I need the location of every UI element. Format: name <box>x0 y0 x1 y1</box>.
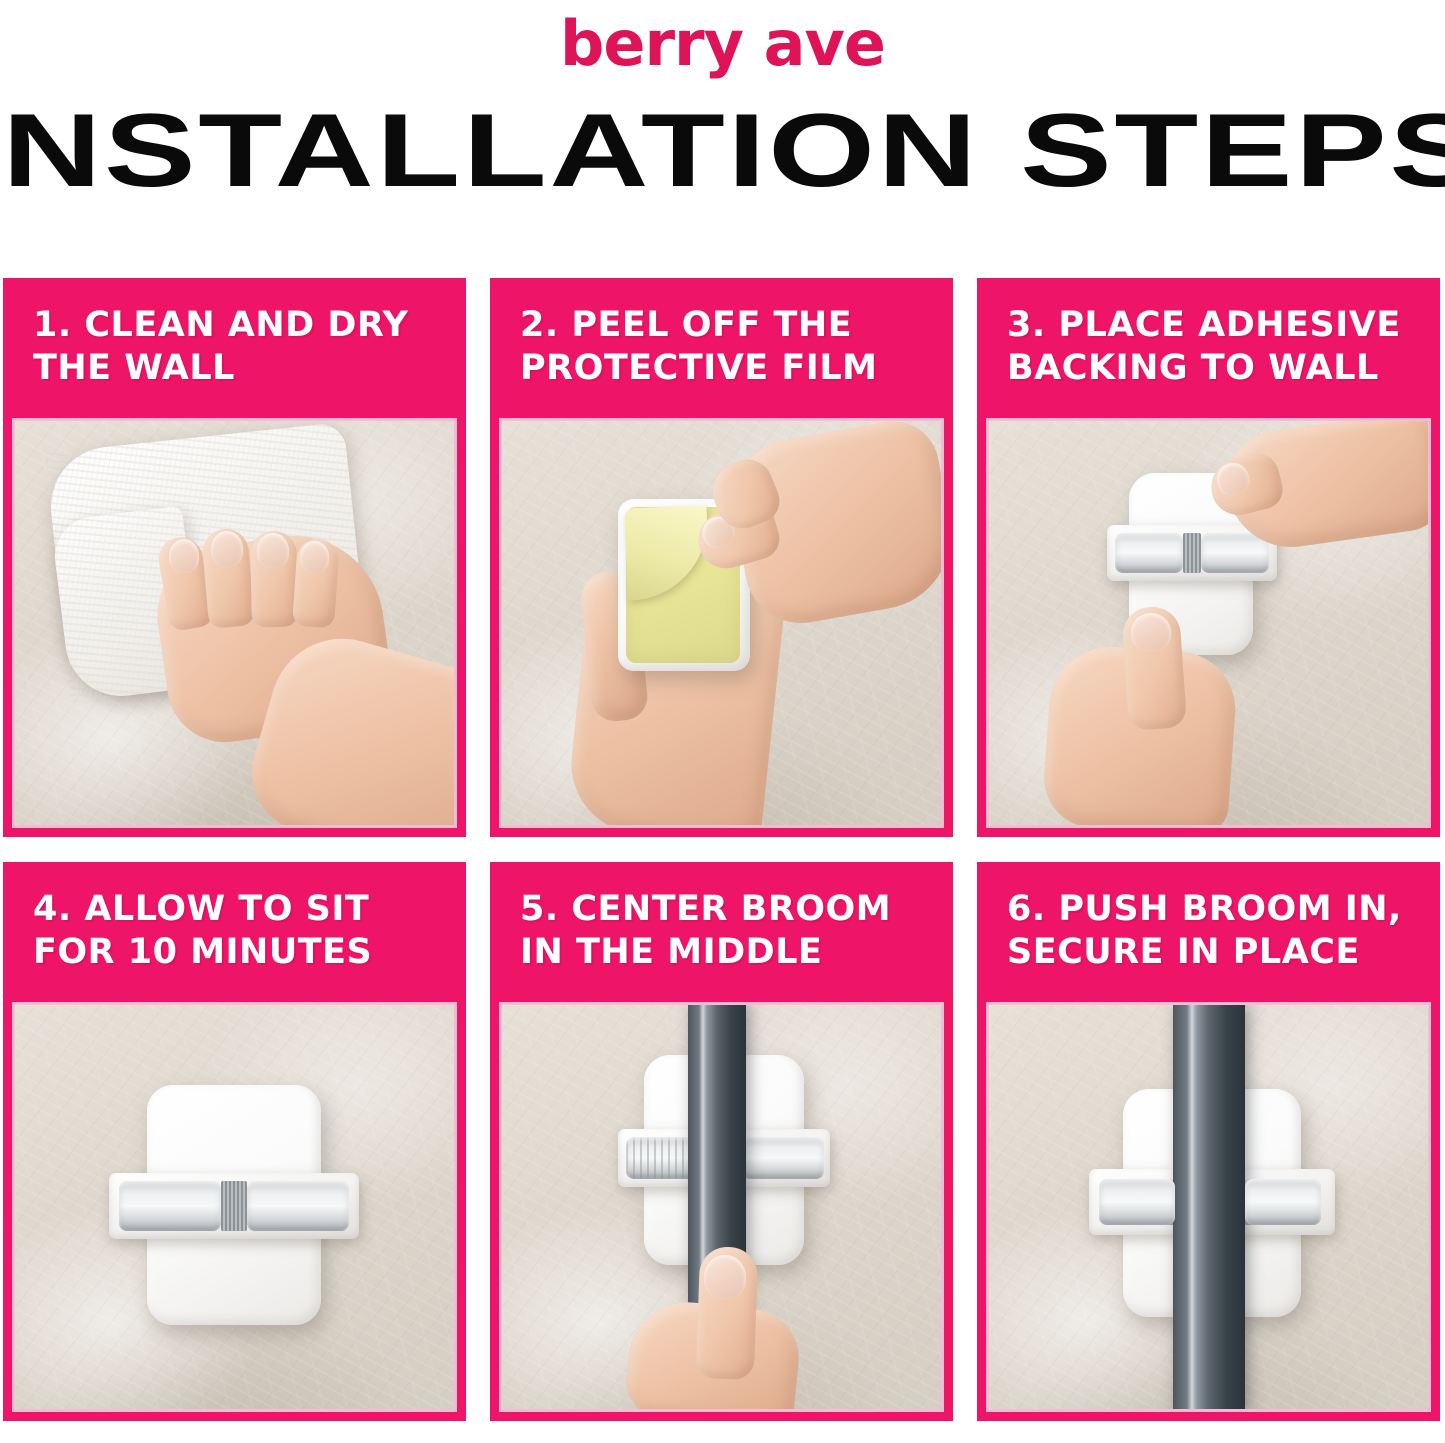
steps-grid: 1. CLEAN AND DRY THE WALL <box>3 278 1442 1421</box>
step-header-6: 6. PUSH BROOM IN, SECURE IN PLACE <box>977 862 1440 1002</box>
step-header-5: 5. CENTER BROOM IN THE MIDDLE <box>490 862 953 1002</box>
step-photo-3 <box>986 418 1431 828</box>
step-header-3: 3. PLACE ADHESIVE BACKING TO WALL <box>977 278 1440 418</box>
installation-steps-page: berry ave INSTALLATION STEPS 1. CLEAN AN… <box>0 0 1445 1443</box>
step-title-1: 1. CLEAN AND DRY THE WALL <box>33 304 440 389</box>
step-header-2: 2. PEEL OFF THE PROTECTIVE FILM <box>490 278 953 418</box>
roller-gap <box>221 1181 247 1231</box>
step-card-6: 6. PUSH BROOM IN, SECURE IN PLACE <box>977 862 1440 1421</box>
nail-middle <box>211 531 243 567</box>
step-photo-4 <box>12 1002 457 1412</box>
step-title-4: 4. ALLOW TO SIT FOR 10 MINUTES <box>33 888 440 973</box>
roller-left-grip <box>1099 1179 1175 1225</box>
page-title-text: INSTALLATION STEPS <box>0 99 1445 203</box>
nail-pinky <box>300 541 329 573</box>
step-photo-2 <box>499 418 944 828</box>
nail-index <box>169 539 199 573</box>
step-card-2: 2. PEEL OFF THE PROTECTIVE FILM <box>490 278 953 837</box>
step-title-5: 5. CENTER BROOM IN THE MIDDLE <box>520 888 927 973</box>
broom-handle-highlight <box>1187 1005 1197 1412</box>
step-card-3: 3. PLACE ADHESIVE BACKING TO WALL <box>977 278 1440 837</box>
nail-ring <box>257 533 289 568</box>
step-card-5: 5. CENTER BROOM IN THE MIDDLE <box>490 862 953 1421</box>
roller-right <box>247 1181 349 1231</box>
brand-logo: berry ave <box>0 0 1445 86</box>
roller-right-grip <box>1245 1179 1321 1225</box>
step-title-6: 6. PUSH BROOM IN, SECURE IN PLACE <box>1007 888 1414 973</box>
step-header-1: 1. CLEAN AND DRY THE WALL <box>3 278 466 418</box>
step-title-3: 3. PLACE ADHESIVE BACKING TO WALL <box>1007 304 1414 389</box>
step-title-2: 2. PEEL OFF THE PROTECTIVE FILM <box>520 304 927 389</box>
step-photo-6 <box>986 1002 1431 1412</box>
nail-thumb-bottom <box>1131 613 1171 651</box>
roller-left <box>1115 533 1183 573</box>
brand-name: berry ave <box>560 4 885 84</box>
roller-right <box>742 1137 824 1179</box>
nail-thumb-centering <box>704 1255 746 1299</box>
roller-right <box>1201 533 1269 573</box>
step-header-4: 4. ALLOW TO SIT FOR 10 MINUTES <box>3 862 466 1002</box>
roller-left <box>119 1181 221 1231</box>
step-card-1: 1. CLEAN AND DRY THE WALL <box>3 278 466 837</box>
page-title: INSTALLATION STEPS <box>0 86 1445 216</box>
broom-handle <box>1173 1005 1245 1412</box>
step-card-4: 4. ALLOW TO SIT FOR 10 MINUTES <box>3 862 466 1421</box>
step-photo-1 <box>12 418 457 828</box>
roller-gap <box>1183 533 1201 573</box>
step-photo-5 <box>499 1002 944 1412</box>
